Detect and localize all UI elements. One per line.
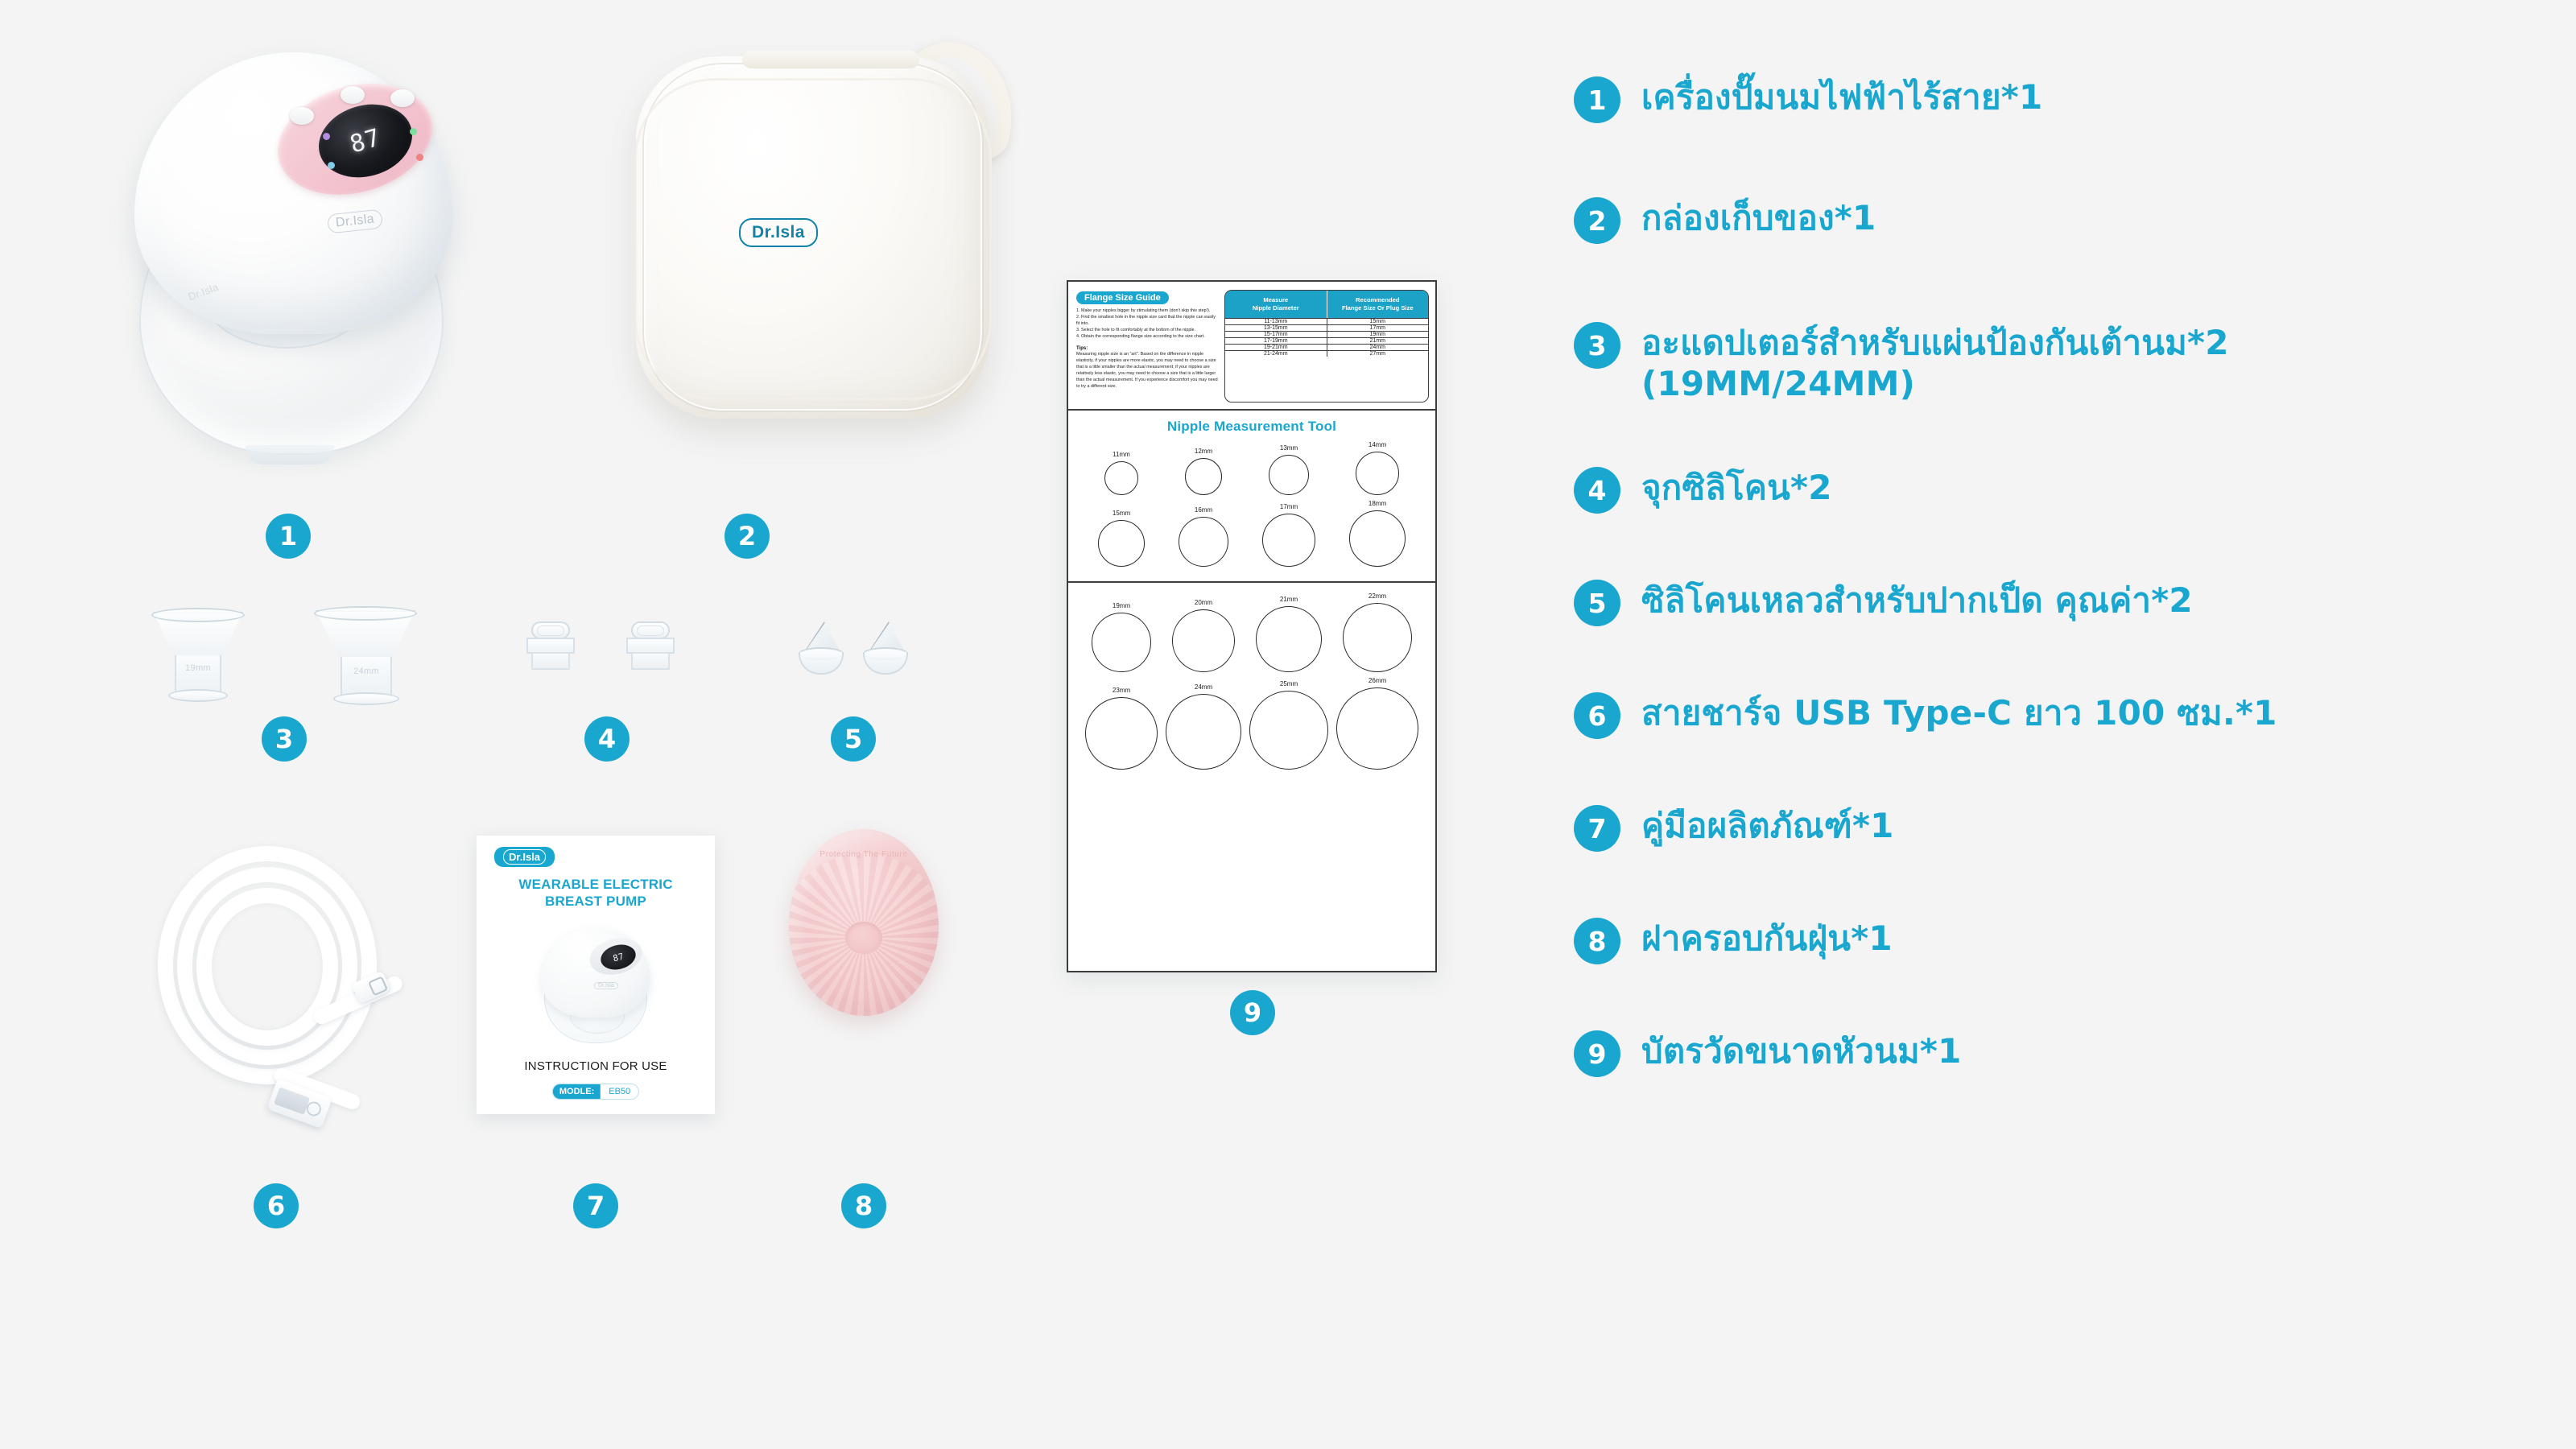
nipple-size-cell: 14mm — [1356, 441, 1399, 495]
nipple-size-circle — [1092, 613, 1151, 672]
nipple-size-cell: 11mm — [1104, 451, 1138, 495]
flange-size-guide-section: Flange Size Guide 1. Make your nipples b… — [1068, 282, 1435, 411]
manual-model-value: EB50 — [601, 1084, 638, 1099]
flange-lip — [151, 608, 245, 622]
flange-size-marking: 19mm — [175, 663, 221, 673]
legend-badge-6: 6 — [1574, 692, 1620, 739]
nipple-measurement-tool-section: Nipple Measurement Tool 11mm12mm13mm14mm… — [1068, 411, 1435, 583]
legend-badge-2: 2 — [1574, 197, 1620, 244]
flange-table-cell-diameter: 21-24mm — [1225, 351, 1327, 357]
nipple-size-circle — [1262, 514, 1315, 567]
photo-badge-6: 6 — [254, 1183, 299, 1228]
flange-table-cell-size: 15mm — [1327, 319, 1429, 324]
nipple-size-cell: 22mm — [1343, 592, 1412, 672]
legend-badge-9: 9 — [1574, 1030, 1620, 1077]
nipple-size-label: 15mm — [1113, 510, 1130, 517]
legend-label-7: คู่มือผลิตภัณฑ์*1 — [1641, 805, 1894, 846]
nipple-size-label: 14mm — [1368, 441, 1386, 448]
case-top-tab — [742, 51, 919, 68]
nipple-size-circle — [1166, 694, 1241, 770]
plug-bottom-body — [631, 652, 670, 670]
flange-table-cell-diameter: 19-21mm — [1225, 345, 1327, 350]
manual-model-key: MODLE: — [553, 1084, 601, 1099]
nipple-size-label: 25mm — [1280, 680, 1298, 687]
cover-embossed-text: Protecting The Future — [803, 850, 924, 859]
nipple-size-cell: 26mm — [1336, 677, 1418, 770]
product-instruction-manual: Dr.Isla WEARABLE ELECTRIC BREAST PUMP 87… — [477, 836, 715, 1114]
nipple-size-cell: 12mm — [1185, 448, 1222, 495]
legend-item-2: 2กล่องเก็บของ*1 — [1574, 197, 1876, 244]
plug-top-inner — [637, 625, 664, 636]
flange-base — [333, 692, 399, 705]
nipple-size-cell: 17mm — [1262, 503, 1315, 567]
pump-foot — [246, 445, 334, 464]
nipple-size-circle — [1343, 603, 1412, 672]
legend-badge-4: 4 — [1574, 467, 1620, 514]
manual-cover-illustration: 87 Dr.Isla — [539, 924, 652, 1045]
nipple-size-label: 13mm — [1280, 444, 1298, 452]
product-silicone-plug-b — [626, 621, 675, 671]
flange-table-cell-size: 17mm — [1327, 325, 1429, 331]
legend-badge-8: 8 — [1574, 918, 1620, 964]
plug-mid-body — [626, 638, 675, 654]
pump-indicator-green — [410, 128, 417, 135]
flange-guide-pill-title: Flange Size Guide — [1076, 291, 1169, 304]
flange-base — [168, 689, 228, 702]
nipple-tool-rows-upper: 11mm12mm13mm14mm15mm16mm17mm18mm — [1068, 441, 1435, 567]
nipple-size-cell: 20mm — [1172, 599, 1235, 672]
nipple-size-label: 11mm — [1113, 451, 1130, 458]
valve-base — [863, 652, 908, 675]
nipple-measurement-tool-section-lower: 19mm20mm21mm22mm23mm24mm25mm26mm — [1068, 583, 1435, 786]
nipple-size-cell: 19mm — [1092, 602, 1151, 672]
nipple-size-circle — [1185, 458, 1222, 495]
manual-brand-logo: Dr.Isla — [494, 847, 555, 867]
legend-item-4: 4จุกซิลิโคน*2 — [1574, 467, 1832, 514]
product-silicone-plug-a — [526, 621, 575, 671]
flange-table-row: 21-24mm27mm — [1225, 350, 1428, 357]
nipple-tool-row: 15mm16mm17mm18mm — [1068, 500, 1435, 567]
nipple-size-label: 23mm — [1113, 687, 1130, 694]
nipple-size-label: 19mm — [1113, 602, 1130, 609]
nipple-tool-rows-lower: 19mm20mm21mm22mm23mm24mm25mm26mm — [1068, 592, 1435, 770]
manual-instruction-label: INSTRUCTION FOR USE — [477, 1059, 715, 1073]
product-flange-24mm: 24mm — [316, 610, 417, 708]
manual-pump-logo: Dr.Isla — [594, 982, 618, 989]
flange-size-table: Measure Nipple Diameter Recommended Flan… — [1224, 290, 1429, 402]
product-dust-cover: Protecting The Future — [789, 829, 939, 1016]
photo-badge-2: 2 — [724, 514, 770, 559]
nipple-size-cell: 15mm — [1098, 510, 1145, 567]
photo-badge-5: 5 — [831, 716, 876, 762]
nipple-size-cell: 16mm — [1179, 506, 1228, 567]
flange-size-marking: 24mm — [341, 667, 392, 676]
nipple-tool-row: 23mm24mm25mm26mm — [1068, 677, 1435, 770]
nipple-size-circle — [1098, 520, 1145, 567]
product-duckbill-valve-a — [799, 621, 844, 675]
flange-guide-text-column: Flange Size Guide 1. Make your nipples b… — [1076, 290, 1224, 402]
legend-item-8: 8ฝาครอบกันฝุ่น*1 — [1574, 918, 1893, 964]
nipple-size-circle — [1256, 606, 1322, 672]
nipple-size-cell: 24mm — [1166, 683, 1241, 770]
nipple-size-label: 26mm — [1368, 677, 1386, 684]
flange-table-header-recommended: Recommended Flange Size Or Plug Size — [1327, 291, 1429, 318]
nipple-size-label: 20mm — [1195, 599, 1212, 606]
flange-table-cell-diameter: 15-17mm — [1225, 332, 1327, 337]
nipple-size-label: 21mm — [1280, 596, 1298, 603]
nipple-size-cell: 25mm — [1249, 680, 1328, 770]
case-brand-logo: Dr.Isla — [739, 218, 818, 247]
plug-mid-body — [526, 638, 575, 654]
flange-table-body: 11-13mm15mm13-15mm17mm15-17mm19mm17-19mm… — [1225, 318, 1428, 357]
flange-table-cell-size: 27mm — [1327, 351, 1429, 357]
legend-item-6: 6สายชาร์จ USB Type-C ยาว 100 ซม.*1 — [1574, 692, 2277, 739]
flange-neck — [341, 657, 392, 696]
legend-label-9: บัตรวัดขนาดหัวนม*1 — [1641, 1030, 1962, 1071]
legend-item-5: 5ซิลิโคนเหลวสำหรับปากเป็ด คุณค่า*2 — [1574, 580, 2193, 626]
cover-center-dimple — [845, 922, 882, 954]
nipple-size-circle — [1179, 517, 1228, 567]
plug-top-inner — [537, 625, 564, 636]
flange-neck — [175, 655, 221, 692]
valve-base — [799, 652, 844, 675]
nipple-size-label: 16mm — [1195, 506, 1212, 514]
accessories-legend-list: 1เครื่องปั๊มนมไฟฟ้าไร้สาย*12กล่องเก็บของ… — [1554, 0, 2576, 1449]
flange-table-cell-diameter: 17-19mm — [1225, 338, 1327, 344]
flange-table-row: 13-15mm17mm — [1225, 324, 1428, 331]
nipple-size-circle — [1249, 691, 1328, 770]
pump-display-value: 87 — [347, 123, 384, 159]
product-duckbill-valve-b — [863, 621, 908, 675]
pump-indicator-red — [416, 154, 423, 161]
photo-badge-8: 8 — [841, 1183, 886, 1228]
legend-label-5: ซิลิโคนเหลวสำหรับปากเป็ด คุณค่า*2 — [1641, 580, 2193, 621]
legend-item-7: 7คู่มือผลิตภัณฑ์*1 — [1574, 805, 1894, 852]
legend-item-3: 3อะแดปเตอร์สำหรับแผ่นป้องกันเต้านม*2 (19… — [1574, 322, 2229, 404]
legend-badge-7: 7 — [1574, 805, 1620, 852]
plug-bottom-body — [531, 652, 570, 670]
nipple-size-label: 18mm — [1368, 500, 1386, 507]
nipple-size-circle — [1356, 452, 1399, 495]
nipple-size-label: 12mm — [1195, 448, 1212, 455]
nipple-size-circle — [1104, 461, 1138, 495]
manual-brand-logo-text: Dr.Isla — [503, 849, 546, 865]
photo-badge-3: 3 — [262, 716, 307, 762]
nipple-size-label: 17mm — [1280, 503, 1298, 510]
nipple-size-cell: 23mm — [1085, 687, 1158, 770]
product-usb-cable — [153, 841, 419, 1147]
legend-item-1: 1เครื่องปั๊มนมไฟฟ้าไร้สาย*1 — [1574, 76, 2042, 123]
nipple-size-label: 24mm — [1195, 683, 1212, 691]
flange-table-cell-size: 21mm — [1327, 338, 1429, 344]
flange-table-cell-size: 19mm — [1327, 332, 1429, 337]
flange-lip — [314, 606, 417, 621]
nipple-size-cell: 21mm — [1256, 596, 1322, 672]
pump-mode-button — [341, 86, 365, 104]
nipple-size-circle — [1336, 687, 1418, 770]
nipple-size-circle — [1172, 609, 1235, 672]
nipple-size-cell: 18mm — [1349, 500, 1406, 567]
legend-label-3: อะแดปเตอร์สำหรับแผ่นป้องกันเต้านม*2 (19M… — [1641, 322, 2229, 404]
flange-guide-tips-body: Measuring nipple size is an "art". Based… — [1076, 351, 1220, 390]
pump-plus-button — [390, 89, 415, 107]
nipple-size-label: 22mm — [1368, 592, 1386, 600]
product-photo-area: 87 Dr.Isla Dr.Isla 1 Dr.Isla 2 19mm 24mm… — [0, 0, 1529, 1449]
pump-indicator-blue — [328, 162, 335, 169]
legend-label-8: ฝาครอบกันฝุ่น*1 — [1641, 918, 1893, 959]
legend-label-6: สายชาร์จ USB Type-C ยาว 100 ซม.*1 — [1641, 692, 2277, 733]
photo-badge-1: 1 — [266, 514, 311, 559]
nipple-size-cell: 13mm — [1269, 444, 1309, 495]
pump-indicator-purple — [323, 133, 330, 140]
flange-table-row: 17-19mm21mm — [1225, 337, 1428, 344]
legend-label-4: จุกซิลิโคน*2 — [1641, 467, 1832, 508]
flange-table-cell-size: 24mm — [1327, 345, 1429, 350]
product-storage-case: Dr.Isla — [620, 36, 1038, 455]
nipple-tool-row: 19mm20mm21mm22mm — [1068, 592, 1435, 672]
flange-table-cell-diameter: 11-13mm — [1225, 319, 1327, 324]
legend-item-9: 9บัตรวัดขนาดหัวนม*1 — [1574, 1030, 1962, 1077]
flange-table-cell-diameter: 13-15mm — [1225, 325, 1327, 331]
legend-badge-3: 3 — [1574, 322, 1620, 369]
flange-table-header-row: Measure Nipple Diameter Recommended Flan… — [1225, 291, 1428, 318]
manual-title: WEARABLE ELECTRIC BREAST PUMP — [477, 876, 715, 910]
legend-badge-1: 1 — [1574, 76, 1620, 123]
usb-a-tongue — [274, 1087, 310, 1114]
nipple-size-circle — [1349, 510, 1406, 567]
flange-table-row: 11-13mm15mm — [1225, 318, 1428, 324]
photo-badge-7: 7 — [573, 1183, 618, 1228]
manual-model-badge: MODLE: EB50 — [552, 1084, 639, 1100]
pump-power-button — [290, 107, 314, 125]
flange-table-row: 19-21mm24mm — [1225, 344, 1428, 350]
nipple-size-circle — [1085, 697, 1158, 770]
legend-label-1: เครื่องปั๊มนมไฟฟ้าไร้สาย*1 — [1641, 76, 2042, 118]
nipple-tool-title: Nipple Measurement Tool — [1068, 419, 1435, 435]
product-breast-pump: 87 Dr.Isla Dr.Isla — [125, 44, 463, 495]
nipple-tool-row: 11mm12mm13mm14mm — [1068, 441, 1435, 495]
photo-badge-9: 9 — [1230, 990, 1275, 1035]
flange-table-header-measure: Measure Nipple Diameter — [1225, 291, 1327, 318]
legend-label-2: กล่องเก็บของ*1 — [1641, 197, 1876, 238]
product-nipple-measurement-card: Flange Size Guide 1. Make your nipples b… — [1067, 280, 1437, 972]
photo-badge-4: 4 — [584, 716, 630, 762]
nipple-size-circle — [1269, 455, 1309, 495]
legend-badge-5: 5 — [1574, 580, 1620, 626]
product-flange-19mm: 19mm — [153, 612, 246, 704]
flange-guide-steps: 1. Make your nipples bigger by stimulati… — [1076, 308, 1220, 341]
flange-table-row: 15-17mm19mm — [1225, 331, 1428, 337]
